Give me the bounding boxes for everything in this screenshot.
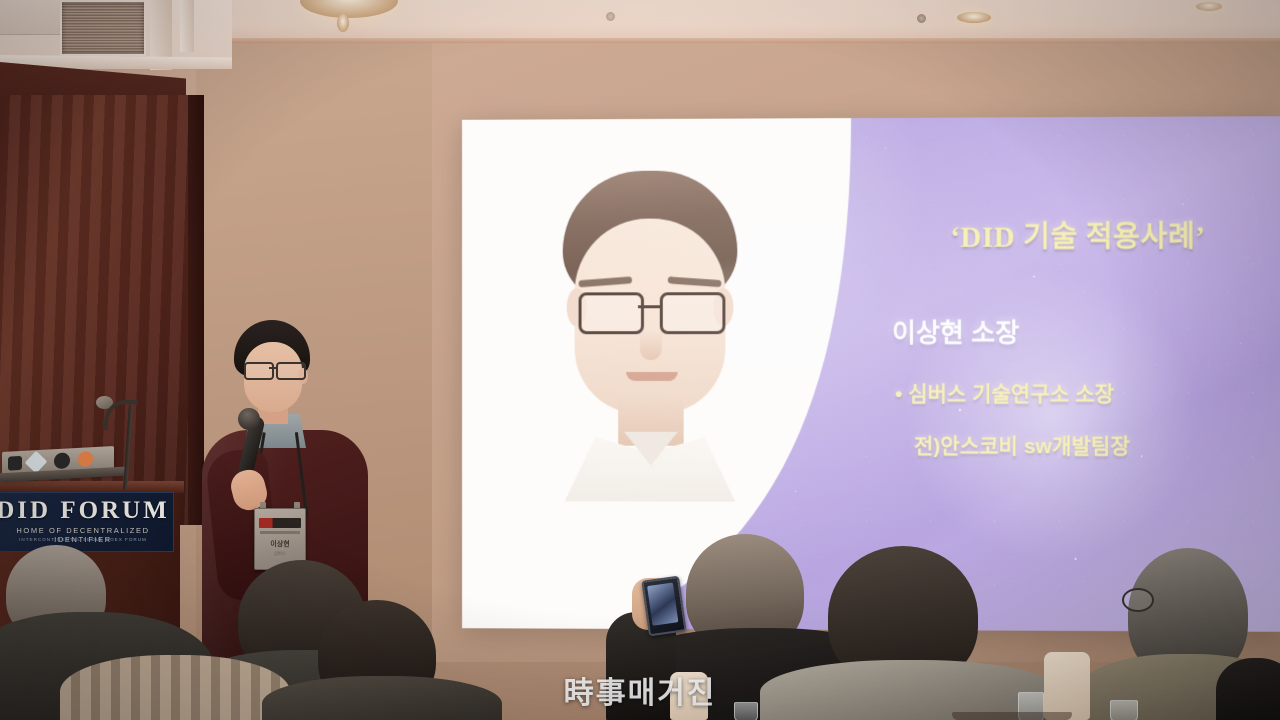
presenter-glasses-bridge (269, 367, 278, 369)
badge-name-text: 이상현 (255, 539, 305, 549)
portrait-mouth (626, 372, 678, 381)
presenter-lens-right (276, 362, 306, 380)
ceiling-beam (180, 0, 194, 52)
presenter-glasses (242, 362, 306, 377)
presenter-lens-left (244, 362, 274, 380)
smartphone-screen (647, 583, 678, 626)
publisher-watermark: 時事매거진 (0, 668, 1280, 712)
podium-banner-subtitle: HOME OF DECENTRALIZED IDENTIFIER (0, 526, 171, 544)
portrait-glasses (577, 292, 724, 330)
badge-divider (260, 531, 300, 534)
slide-bullet-1: • 심버스 기술연구소 소장 (895, 378, 1114, 408)
laptop-sticker-letter-g (54, 452, 70, 469)
slide-bullet-2: 전)안스코비 sw개발팀장 (914, 430, 1130, 460)
portrait-lens-right (660, 292, 726, 334)
badge-forum-logo (259, 518, 301, 528)
portrait-nose (640, 330, 662, 360)
sprinkler-head (606, 12, 615, 21)
recessed-ceiling-light (1196, 2, 1222, 11)
smartphone-camera[interactable] (641, 576, 686, 637)
hvac-vent (60, 0, 146, 56)
photo-scene: ‘DID 기술 적용사례’ 이상현 소장 • 심버스 기술연구소 소장 전)안스… (0, 0, 1280, 720)
pendant-light-stem (337, 14, 349, 32)
laptop-sticker-orange (78, 451, 93, 467)
sprinkler-head (917, 14, 926, 23)
audience-eyeglasses (1122, 588, 1154, 612)
portrait-lens-left (579, 292, 644, 334)
portrait-glasses-bridge (638, 305, 662, 308)
podium-banner: DID FORUM HOME OF DECENTRALIZED IDENTIFI… (0, 492, 174, 552)
table-surface (952, 712, 1072, 720)
slide-portrait-photo (541, 170, 759, 499)
laptop-sticker-square (8, 456, 22, 471)
slide-title: ‘DID 기술 적용사례’ (887, 213, 1270, 256)
recessed-ceiling-light (957, 12, 991, 23)
slide-speaker-name: 이상현 소장 (892, 313, 1019, 350)
badge-affiliation-text: 심버스 (255, 551, 305, 557)
ceiling-panel (0, 0, 60, 35)
podium-banner-title: DID FORUM (0, 497, 171, 525)
podium-banner-subtitle-2: INTERCONTINENTAL SEOUL COEX FORUM (0, 537, 171, 542)
